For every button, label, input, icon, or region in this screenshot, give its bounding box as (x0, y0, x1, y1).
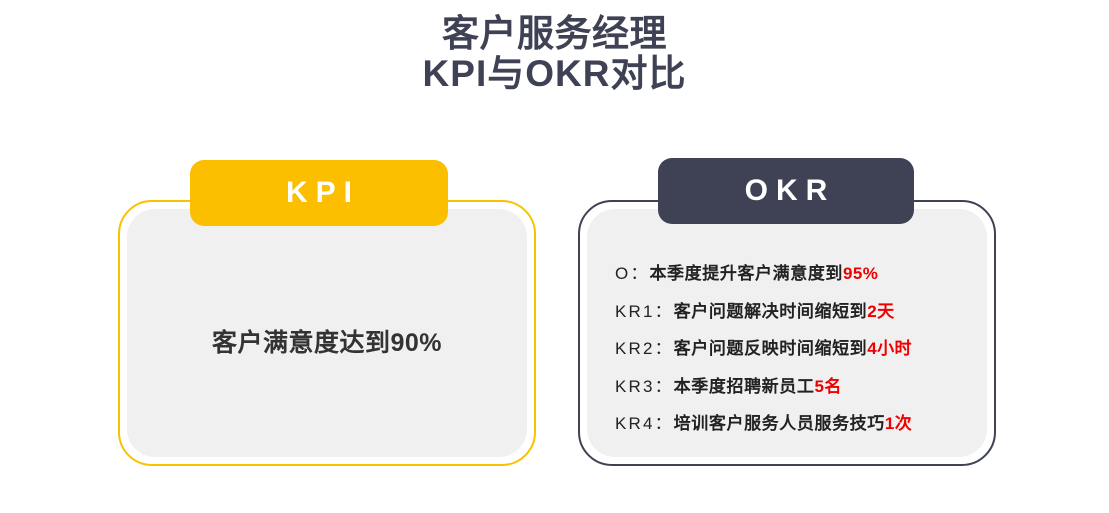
okr-row-key: KR3 (615, 377, 655, 397)
okr-row-separator: ： (655, 297, 672, 322)
kpi-card-panel: 客户满意度达到90% (127, 209, 527, 457)
okr-row-separator: ： (655, 334, 672, 359)
okr-row-separator: ： (655, 409, 672, 434)
kpi-card: 客户满意度达到90% (118, 200, 536, 466)
okr-row-text: 客户问题反映时间缩短到 (674, 334, 868, 359)
okr-row-text: 培训客户服务人员服务技巧 (674, 409, 885, 434)
okr-row-accent: 95% (843, 264, 878, 284)
okr-row: KR2 ： 客户问题反映时间缩短到 4小时 (615, 334, 973, 372)
okr-header-label: OKR (737, 174, 836, 208)
okr-row-separator: ： (630, 259, 647, 284)
okr-row-separator: ： (655, 372, 672, 397)
okr-row-accent: 2天 (867, 297, 894, 322)
okr-row-accent: 4小时 (867, 334, 912, 359)
okr-row-accent: 1次 (885, 409, 912, 434)
kpi-metric-text: 客户满意度达到90% (212, 307, 442, 359)
okr-row-text: 本季度提升客户满意度到 (649, 259, 843, 284)
okr-row-key: KR1 (615, 302, 655, 322)
okr-card-panel: O ： 本季度提升客户满意度到 95% KR1 ： 客户问题解决时间缩短到 2天… (587, 209, 987, 457)
okr-row-key: KR2 (615, 339, 655, 359)
okr-row: KR1 ： 客户问题解决时间缩短到 2天 (615, 297, 973, 335)
okr-row-text: 本季度招聘新员工 (674, 372, 815, 397)
okr-row: O ： 本季度提升客户满意度到 95% (615, 259, 973, 297)
okr-card-body: O ： 本季度提升客户满意度到 95% KR1 ： 客户问题解决时间缩短到 2天… (615, 253, 973, 447)
kpi-header-tab: KPI (190, 160, 448, 226)
kpi-card-body: 客户满意度达到90% (127, 209, 527, 457)
okr-row-key: KR4 (615, 414, 655, 434)
okr-row: KR3 ： 本季度招聘新员工 5名 (615, 372, 973, 410)
okr-header-tab: OKR (658, 158, 914, 224)
kpi-header-label: KPI (278, 176, 360, 210)
okr-card: O ： 本季度提升客户满意度到 95% KR1 ： 客户问题解决时间缩短到 2天… (578, 200, 996, 466)
okr-row-key: O (615, 264, 630, 284)
okr-row-accent: 5名 (814, 372, 841, 397)
okr-row: KR4 ： 培训客户服务人员服务技巧 1次 (615, 409, 973, 447)
comparison-cards-row: 客户满意度达到90% KPI O ： 本季度提升客户满意度到 95% KR1 ：… (0, 0, 1109, 513)
okr-row-text: 客户问题解决时间缩短到 (674, 297, 868, 322)
